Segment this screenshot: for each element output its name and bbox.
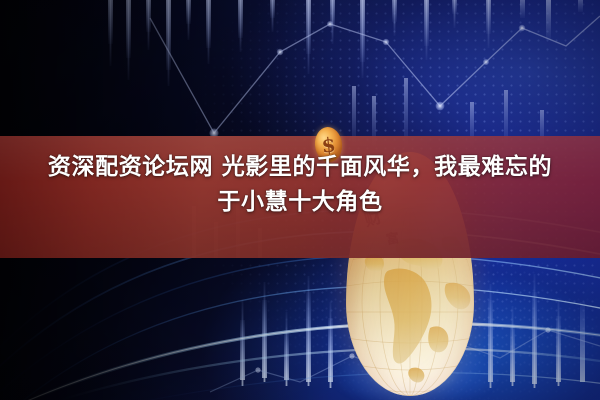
promo-banner-image: 财 富 $ 资深配资论坛网 光影里的千面风华，我最难忘的 于小慧十大角色	[0, 0, 600, 400]
headline-line-2: 于小慧十大角色	[0, 185, 600, 220]
headline-text: 资深配资论坛网 光影里的千面风华，我最难忘的 于小慧十大角色	[0, 150, 600, 220]
headline-line-1: 资深配资论坛网 光影里的千面风华，我最难忘的	[0, 150, 600, 185]
